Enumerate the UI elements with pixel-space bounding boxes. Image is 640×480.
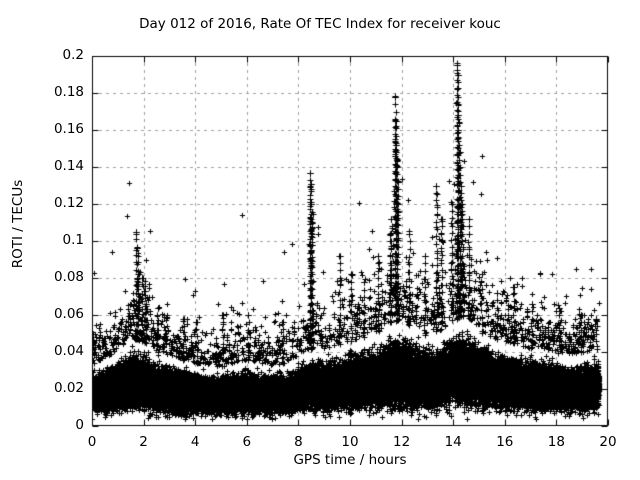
x-tick-label: 20 <box>583 434 633 450</box>
y-tick-label: 0.1 <box>20 232 84 248</box>
x-tick-label: 10 <box>325 434 375 450</box>
x-tick-label: 16 <box>480 434 530 450</box>
y-axis-label: ROTI / TECUs <box>10 124 26 324</box>
x-axis-label: GPS time / hours <box>92 452 608 468</box>
x-tick-label: 2 <box>119 434 169 450</box>
y-tick-label: 0 <box>20 417 84 433</box>
y-tick-label: 0.16 <box>20 121 84 137</box>
x-tick-label: 8 <box>273 434 323 450</box>
x-tick-label: 6 <box>222 434 272 450</box>
scatter-plot-canvas <box>0 0 640 480</box>
x-tick-label: 12 <box>377 434 427 450</box>
x-tick-label: 18 <box>531 434 581 450</box>
x-tick-label: 0 <box>67 434 117 450</box>
y-tick-label: 0.02 <box>20 380 84 396</box>
y-tick-label: 0.04 <box>20 343 84 359</box>
y-tick-label: 0.06 <box>20 306 84 322</box>
y-tick-label: 0.18 <box>20 84 84 100</box>
x-tick-label: 14 <box>428 434 478 450</box>
y-tick-label: 0.08 <box>20 269 84 285</box>
y-tick-label: 0.12 <box>20 195 84 211</box>
y-tick-label: 0.2 <box>20 47 84 63</box>
x-tick-label: 4 <box>170 434 220 450</box>
chart-figure: Day 012 of 2016, Rate Of TEC Index for r… <box>0 0 640 480</box>
y-tick-label: 0.14 <box>20 158 84 174</box>
